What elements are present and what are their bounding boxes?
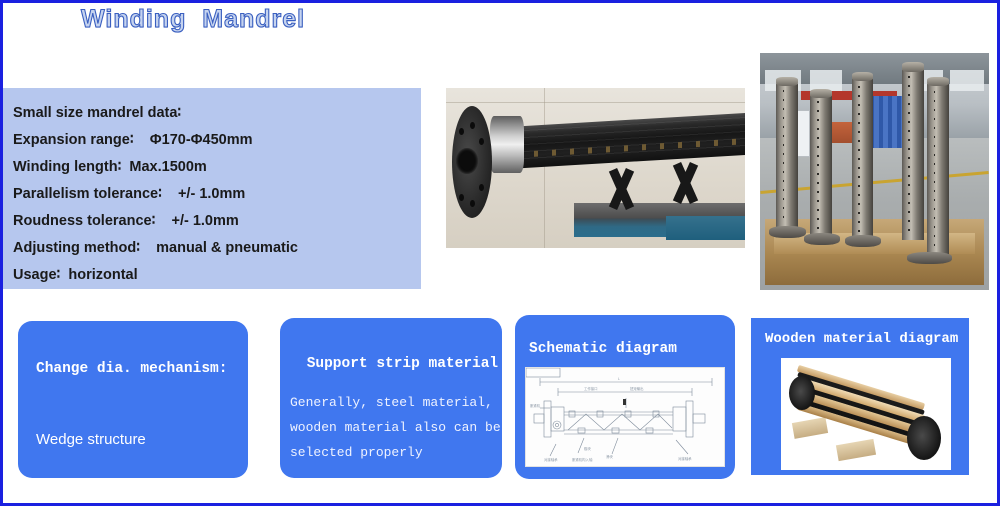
flange-bolt-hole [479, 138, 484, 145]
flange-bolt-hole [459, 194, 464, 201]
mandrel-base [907, 252, 953, 264]
page-root: Winding Mandrel Small size mandrel data∶… [0, 0, 1000, 506]
svg-text:L: L [618, 377, 620, 381]
mandrel-hub [456, 148, 478, 174]
wood-support-block [792, 417, 828, 439]
x-stand [604, 170, 638, 208]
wooden-mandrel-image [781, 358, 951, 470]
svg-text:扭矩输出: 扭矩输出 [630, 386, 644, 391]
mandrel-base [845, 235, 882, 247]
flange-bolt-hole [470, 200, 475, 207]
vertical-mandrel [776, 84, 798, 231]
factory-window [810, 70, 842, 91]
spec-row-parallelism: Parallelism tolerance∶ +/- 1.0mm [13, 181, 421, 208]
mandrel-cap [927, 77, 949, 86]
spec-row-title: Small size mandrel data∶ [13, 100, 421, 127]
svg-text:工作接口: 工作接口 [584, 386, 598, 391]
change-mechanism-card: Change dia. mechanism: Wedge structure [18, 321, 248, 478]
mandrel-base [769, 226, 806, 238]
mandrel-end-cap [789, 376, 815, 410]
vertical-mandrel [810, 96, 832, 238]
factory-product-photo [760, 53, 989, 290]
factory-window [950, 70, 984, 91]
x-stand [668, 164, 702, 202]
spec-row-winding: Winding length∶ Max.1500m [13, 154, 421, 181]
support-strip-heading: Support strip material [298, 356, 498, 372]
mandrel-collar [490, 116, 524, 173]
workbench-leg [666, 216, 745, 240]
schematic-drawing-image: L 工作接口 扭矩输出 胀紧机 对接轴承 胀紧机构入轴 滑块 楔块 对接轴承 [525, 367, 725, 467]
flange-bolt-hole [479, 184, 484, 191]
vertical-mandrel [852, 79, 874, 240]
vertical-mandrel [902, 70, 924, 241]
vertical-mandrel [927, 84, 949, 259]
wall-seam [446, 102, 745, 103]
mandrel-cap [902, 62, 924, 71]
support-strip-body: Generally, steel material, wooden materi… [290, 390, 501, 465]
schematic-diagram-card: Schematic diagram [515, 315, 735, 479]
mandrel-cap [852, 72, 874, 81]
svg-text:胀紧机构入轴: 胀紧机构入轴 [572, 457, 593, 462]
wooden-material-heading: Wooden material diagram [765, 331, 958, 347]
change-mechanism-body: Wedge structure [36, 431, 146, 448]
flange-bolt-hole [470, 122, 475, 129]
svg-text:胀紧机: 胀紧机 [530, 403, 541, 408]
mandrel-end-cap [907, 416, 941, 460]
support-strip-card: Support strip material Generally, steel … [280, 318, 502, 478]
spec-row-roundness: Roudness tolerance∶ +/- 1.0mm [13, 208, 421, 235]
mandrel-base [804, 233, 841, 245]
flange-bolt-hole [459, 128, 464, 135]
svg-text:对接轴承: 对接轴承 [544, 457, 558, 462]
mandrel-product-photo [446, 88, 745, 248]
wood-support-block [836, 439, 876, 461]
wooden-material-card: Wooden material diagram [746, 313, 974, 480]
svg-text:对接轴承: 对接轴承 [678, 456, 692, 461]
wall-seam [544, 88, 545, 248]
mandrel-cap [776, 77, 798, 86]
spec-row-expansion: Expansion range∶ Φ170-Φ450mm [13, 127, 421, 154]
svg-text:楔块: 楔块 [584, 446, 591, 451]
mandrel-cap [810, 89, 832, 98]
page-title: Winding Mandrel [81, 5, 305, 34]
cad-annotations: L 工作接口 扭矩输出 胀紧机 对接轴承 胀紧机构入轴 滑块 楔块 对接轴承 [530, 377, 692, 462]
svg-text:滑块: 滑块 [606, 454, 613, 459]
spec-row-usage: Usage∶ horizontal [13, 262, 421, 289]
spec-panel: Small size mandrel data∶ Expansion range… [3, 88, 421, 289]
schematic-diagram-heading: Schematic diagram [529, 341, 677, 357]
cad-drawing-svg: L 工作接口 扭矩输出 胀紧机 对接轴承 胀紧机构入轴 滑块 楔块 对接轴承 [526, 368, 726, 468]
change-mechanism-heading: Change dia. mechanism: [36, 361, 227, 377]
spec-row-adjusting: Adjusting method∶ manual & pneumatic [13, 235, 421, 262]
